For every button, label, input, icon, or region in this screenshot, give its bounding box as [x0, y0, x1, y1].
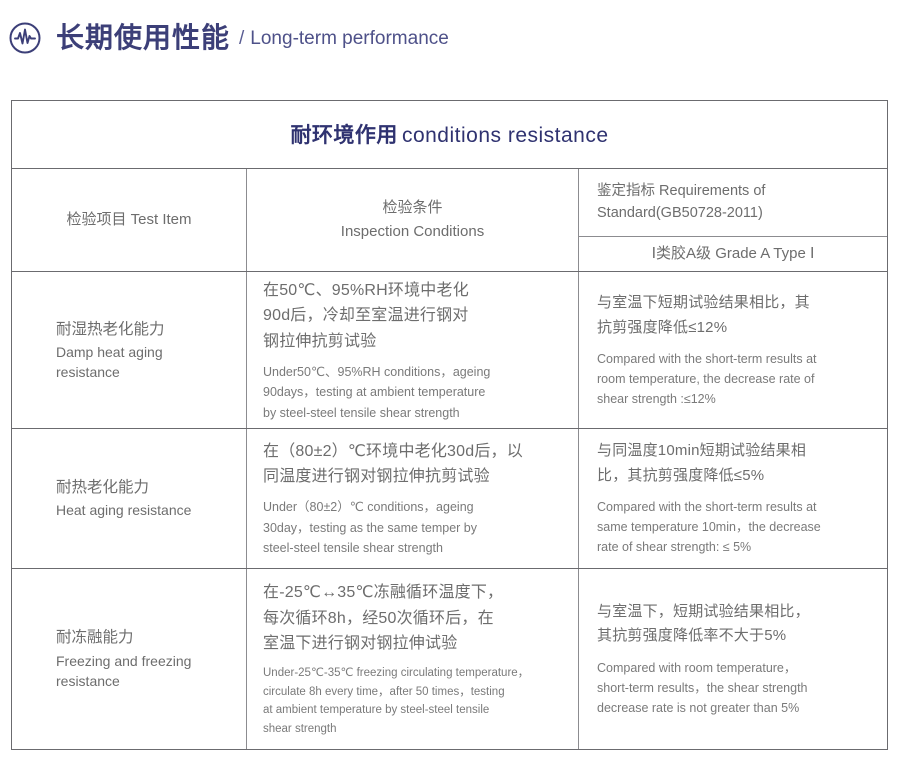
test-item-cn: 耐热老化能力 — [56, 476, 228, 499]
requirement-en-line-1: Compared with the short-term results at — [597, 349, 871, 369]
requirement-en-line-2: short-term results，the shear strength — [597, 678, 871, 698]
cell-inspection-condition: 在（80±2）℃环境中老化30d后，以 同温度进行钢对钢拉伸抗剪试验 Under… — [247, 429, 579, 568]
condition-en: Under50℃、95%RH conditions，ageing 90days，… — [263, 362, 562, 423]
cell-requirement: 与室温下短期试验结果相比，其 抗剪强度降低≤12% Compared with … — [579, 272, 887, 428]
condition-en: Under（80±2）℃ conditions，ageing 30day，tes… — [263, 497, 562, 558]
page-title-separator: / — [239, 29, 244, 48]
condition-cn-line-1: 在（80±2）℃环境中老化30d后，以 — [263, 439, 562, 465]
requirement-en-line-1: Compared with room temperature， — [597, 658, 871, 678]
condition-cn: 在（80±2）℃环境中老化30d后，以 同温度进行钢对钢拉伸抗剪试验 — [263, 439, 562, 491]
condition-cn-line-2: 90d后，冷却至室温进行钢对 — [263, 303, 562, 329]
table-header-row: 检验项目 Test Item 检验条件 Inspection Condition… — [12, 169, 887, 273]
condition-cn-line-3: 室温下进行钢对钢拉伸试验 — [263, 631, 562, 657]
test-item-en-line-1: Freezing and freezing — [56, 651, 228, 671]
column-header-requirements-standard: 鉴定指标 Requirements of Standard(GB50728-20… — [579, 169, 887, 237]
requirement-en-line-3: shear strength :≤12% — [597, 389, 871, 409]
requirement-cn: 与同温度10min短期试验结果相 比，其抗剪强度降低≤5% — [597, 439, 871, 488]
requirement-en-line-2: same temperature 10min，the decrease — [597, 517, 871, 537]
condition-cn: 在-25℃↔35℃冻融循环温度下， 每次循环8h，经50次循环后，在 室温下进行… — [263, 580, 562, 658]
requirements-standard-label: 鉴定指标 Requirements of Standard(GB50728-20… — [597, 180, 765, 225]
requirement-cn: 与室温下，短期试验结果相比， 其抗剪强度降低率不大于5% — [597, 600, 871, 649]
condition-en-line-2: 90days，testing at ambient temperature — [263, 382, 562, 402]
page-title-en: Long-term performance — [250, 29, 449, 48]
condition-cn-line-1: 在50℃、95%RH环境中老化 — [263, 278, 562, 304]
test-item-en-line-1: Damp heat aging — [56, 342, 228, 362]
cell-test-item: 耐湿热老化能力 Damp heat aging resistance — [12, 272, 247, 428]
condition-en-line-1: Under-25℃-35℃ freezing circulating tempe… — [263, 664, 562, 682]
requirement-cn-line-2: 比，其抗剪强度降低≤5% — [597, 464, 871, 488]
table-row: 耐湿热老化能力 Damp heat aging resistance 在50℃、… — [12, 272, 887, 429]
requirement-cn-line-1: 与室温下短期试验结果相比，其 — [597, 291, 871, 315]
condition-en-line-2: circulate 8h every time，after 50 times，t… — [263, 683, 562, 701]
requirement-en-line-3: rate of shear strength: ≤ 5% — [597, 537, 871, 557]
requirement-en: Compared with the short-term results at … — [597, 349, 871, 409]
requirement-cn-line-1: 与同温度10min短期试验结果相 — [597, 439, 871, 463]
cell-test-item: 耐冻融能力 Freezing and freezing resistance — [12, 569, 247, 749]
test-item-cn: 耐湿热老化能力 — [56, 318, 228, 341]
test-item-cn: 耐冻融能力 — [56, 626, 228, 649]
requirement-en: Compared with room temperature， short-te… — [597, 658, 871, 718]
table-title-cn: 耐环境作用 — [290, 124, 398, 147]
test-item-en-line-2: resistance — [56, 362, 228, 382]
condition-en: Under-25℃-35℃ freezing circulating tempe… — [263, 664, 562, 738]
requirement-cn-line-2: 其抗剪强度降低率不大于5% — [597, 624, 871, 648]
table-row: 耐热老化能力 Heat aging resistance 在（80±2）℃环境中… — [12, 429, 887, 569]
requirement-en-line-1: Compared with the short-term results at — [597, 497, 871, 517]
requirements-line-2: Standard(GB50728-2011) — [597, 202, 765, 224]
requirement-cn-line-2: 抗剪强度降低≤12% — [597, 316, 871, 340]
table-row: 耐冻融能力 Freezing and freezing resistance 在… — [12, 569, 887, 749]
test-item-en-line-1: Heat aging resistance — [56, 500, 228, 520]
table-title: 耐环境作用conditions resistance — [290, 119, 608, 149]
condition-en-line-3: by steel-steel tensile shear strength — [263, 403, 562, 423]
column-header-grade: Ⅰ类胶A级 Grade A Type Ⅰ — [579, 237, 887, 272]
column-header-test-item: 检验项目 Test Item — [12, 169, 247, 272]
test-item-en-line-2: resistance — [56, 671, 228, 691]
cell-requirement: 与同温度10min短期试验结果相 比，其抗剪强度降低≤5% Compared w… — [579, 429, 887, 568]
inspection-conditions-cn: 检验条件 — [341, 196, 484, 220]
inspection-conditions-en: Inspection Conditions — [341, 220, 484, 244]
requirement-cn-line-1: 与室温下，短期试验结果相比， — [597, 600, 871, 624]
requirements-line-1: 鉴定指标 Requirements of — [597, 180, 765, 202]
column-header-requirements: 鉴定指标 Requirements of Standard(GB50728-20… — [579, 169, 887, 272]
condition-cn-line-2: 同温度进行钢对钢拉伸抗剪试验 — [263, 464, 562, 490]
cell-test-item: 耐热老化能力 Heat aging resistance — [12, 429, 247, 568]
condition-cn-line-2: 每次循环8h，经50次循环后，在 — [263, 606, 562, 632]
condition-en-line-3: steel-steel tensile shear strength — [263, 538, 562, 558]
pulse-circle-icon — [8, 21, 42, 55]
page-title-cn: 长期使用性能 — [56, 24, 230, 52]
condition-cn-line-3: 钢拉伸抗剪试验 — [263, 329, 562, 355]
cell-requirement: 与室温下，短期试验结果相比， 其抗剪强度降低率不大于5% Compared wi… — [579, 569, 887, 749]
long-term-performance-table: 耐环境作用conditions resistance 检验项目 Test Ite… — [11, 100, 888, 750]
cell-inspection-condition: 在50℃、95%RH环境中老化 90d后，冷却至室温进行钢对 钢拉伸抗剪试验 U… — [247, 272, 579, 428]
column-header-inspection-conditions: 检验条件 Inspection Conditions — [247, 169, 579, 272]
requirement-en: Compared with the short-term results at … — [597, 497, 871, 557]
page-header: 长期使用性能 / Long-term performance — [8, 12, 892, 64]
condition-en-line-3: at ambient temperature by steel-steel te… — [263, 701, 562, 719]
column-header-test-item-label: 检验项目 Test Item — [66, 208, 191, 232]
condition-en-line-1: Under50℃、95%RH conditions，ageing — [263, 362, 562, 382]
condition-en-line-2: 30day，testing as the same temper by — [263, 518, 562, 538]
condition-cn-line-1: 在-25℃↔35℃冻融循环温度下， — [263, 580, 562, 606]
column-header-inspection-conditions-label: 检验条件 Inspection Conditions — [341, 196, 484, 244]
table-title-en: conditions resistance — [402, 124, 609, 147]
condition-cn: 在50℃、95%RH环境中老化 90d后，冷却至室温进行钢对 钢拉伸抗剪试验 — [263, 278, 562, 356]
condition-en-line-4: shear strength — [263, 720, 562, 738]
cell-inspection-condition: 在-25℃↔35℃冻融循环温度下， 每次循环8h，经50次循环后，在 室温下进行… — [247, 569, 579, 749]
requirement-en-line-2: room temperature, the decrease rate of — [597, 369, 871, 389]
table-title-row: 耐环境作用conditions resistance — [12, 101, 887, 169]
condition-en-line-1: Under（80±2）℃ conditions，ageing — [263, 497, 562, 517]
grade-label: Ⅰ类胶A级 Grade A Type Ⅰ — [652, 242, 815, 266]
requirement-en-line-3: decrease rate is not greater than 5% — [597, 698, 871, 718]
requirement-cn: 与室温下短期试验结果相比，其 抗剪强度降低≤12% — [597, 291, 871, 340]
